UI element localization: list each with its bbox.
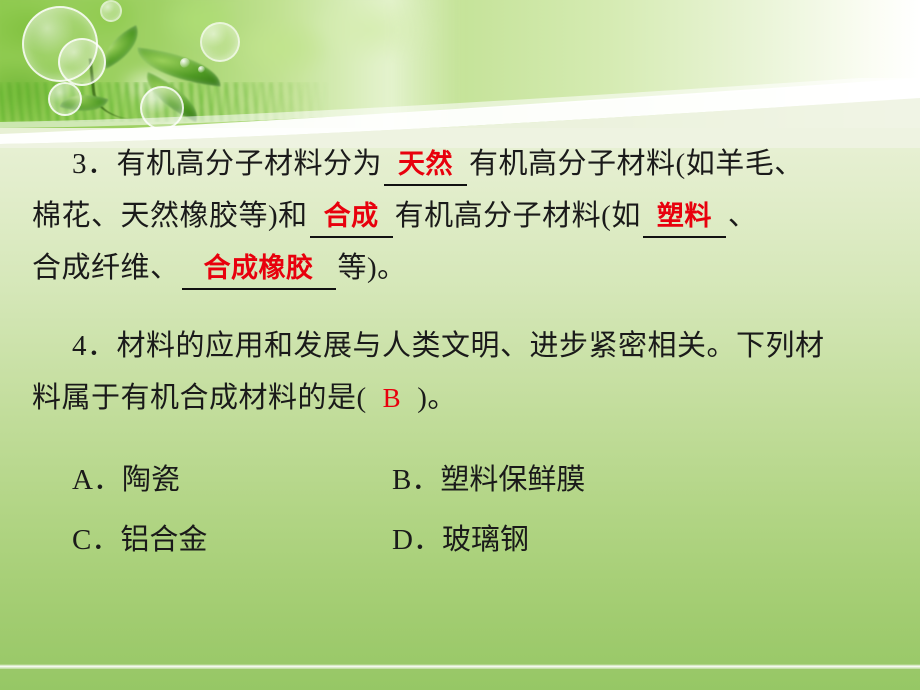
bubble-icon (100, 0, 122, 22)
footer-highlight-line (0, 664, 920, 669)
slide-canvas: 3．有机高分子材料分为天然有机高分子材料(如羊毛、 棉花、天然橡胶等)和合成有机… (0, 0, 920, 690)
q3-blank-4[interactable]: 合成橡胶 (182, 250, 336, 290)
question-4-line-2: 料属于有机合成材料的是(B)。 (0, 372, 920, 424)
bubble-icon (48, 82, 82, 116)
q4-text-b: 料属于有机合成材料的是( (32, 382, 367, 414)
bubble-icon (58, 38, 106, 86)
q4-text-c: )。 (417, 382, 457, 414)
q4-text-a: 材料的应用和发展与人类文明、进步紧密相关。下列材 (117, 330, 825, 362)
question-4-options: A．陶瓷 B．塑料保鲜膜 C．铝合金 D．玻璃钢 (0, 450, 920, 570)
question-3-line-2: 棉花、天然橡胶等)和合成有机高分子材料(如塑料、 (0, 190, 920, 242)
option-d-letter: D． (392, 524, 442, 556)
question-4: 4．材料的应用和发展与人类文明、进步紧密相关。下列材 料属于有机合成材料的是(B… (0, 320, 920, 570)
option-b-text: 塑料保鲜膜 (440, 464, 585, 496)
question-4-answer[interactable]: B (367, 383, 418, 413)
bubble-icon (140, 86, 184, 128)
q3-text-c: 棉花、天然橡胶等)和 (32, 200, 308, 232)
question-3-line-1: 3．有机高分子材料分为天然有机高分子材料(如羊毛、 (0, 138, 920, 190)
q3-blank-2[interactable]: 合成 (310, 198, 393, 238)
q3-text-f: 合成纤维、 (32, 252, 180, 284)
option-c-text: 铝合金 (120, 524, 207, 556)
question-3-number: 3． (72, 148, 117, 180)
q3-text-b: 有机高分子材料(如羊毛、 (469, 148, 804, 180)
question-content: 3．有机高分子材料分为天然有机高分子材料(如羊毛、 棉花、天然橡胶等)和合成有机… (0, 138, 920, 570)
option-row-ab: A．陶瓷 B．塑料保鲜膜 (0, 450, 920, 510)
q3-text-d: 有机高分子材料(如 (395, 200, 641, 232)
question-3-line-3: 合成纤维、合成橡胶等)。 (0, 242, 920, 294)
option-c[interactable]: C．铝合金 (72, 510, 392, 570)
bubble-icon (200, 22, 240, 62)
option-b-letter: B． (392, 464, 440, 496)
option-c-letter: C． (72, 524, 120, 556)
option-d[interactable]: D．玻璃钢 (392, 510, 772, 570)
question-4-line-1: 4．材料的应用和发展与人类文明、进步紧密相关。下列材 (0, 320, 920, 372)
option-b[interactable]: B．塑料保鲜膜 (392, 450, 772, 510)
option-a[interactable]: A．陶瓷 (72, 450, 392, 510)
q3-blank-3[interactable]: 塑料 (643, 198, 726, 238)
q3-blank-1[interactable]: 天然 (384, 146, 467, 186)
header-decoration-band (0, 0, 920, 128)
question-3: 3．有机高分子材料分为天然有机高分子材料(如羊毛、 棉花、天然橡胶等)和合成有机… (0, 138, 920, 294)
question-4-number: 4． (72, 330, 117, 362)
dew-drop-icon (198, 66, 205, 73)
q3-text-e: 、 (728, 200, 758, 232)
dew-drop-icon (180, 58, 190, 68)
q3-text-g: 等)。 (338, 252, 407, 284)
option-a-letter: A． (72, 464, 122, 496)
option-row-cd: C．铝合金 D．玻璃钢 (0, 510, 920, 570)
option-d-text: 玻璃钢 (442, 524, 529, 556)
option-a-text: 陶瓷 (122, 464, 180, 496)
q3-text-a: 有机高分子材料分为 (117, 148, 383, 180)
